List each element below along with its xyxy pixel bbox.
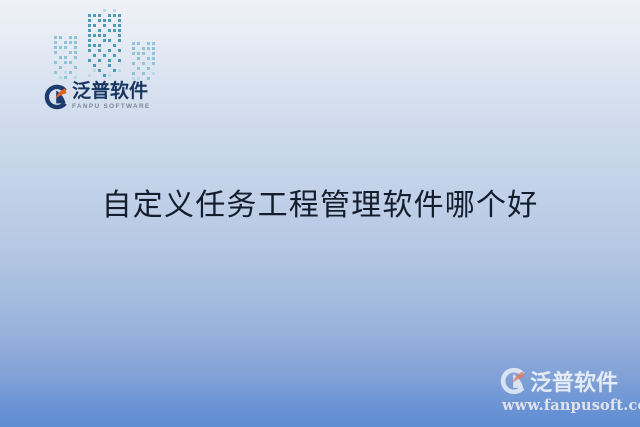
watermark-brand-row: 泛普软件 bbox=[500, 364, 618, 398]
watermark: 泛普软件 www.fanpusoft.com bbox=[496, 364, 638, 420]
pixel-city-buildings-icon bbox=[44, 8, 168, 84]
brand-logo-block[interactable]: 泛普软件 FANPU SOFTWARE bbox=[44, 8, 168, 120]
brand-name-cn: 泛普软件 bbox=[72, 82, 151, 101]
watermark-brand-name: 泛普软件 bbox=[530, 365, 618, 397]
brand-wordmark: 泛普软件 FANPU SOFTWARE bbox=[44, 82, 168, 116]
marketing-banner: 泛普软件 FANPU SOFTWARE 自定义任务工程管理软件哪个好 泛普软件 … bbox=[0, 0, 640, 427]
fanpu-swoosh-logo-icon bbox=[500, 367, 528, 395]
watermark-url: www.fanpusoft.com bbox=[502, 397, 640, 414]
fanpu-swoosh-logo-icon bbox=[44, 84, 70, 110]
page-title: 自定义任务工程管理软件哪个好 bbox=[0, 185, 640, 227]
brand-name-en: FANPU SOFTWARE bbox=[72, 104, 151, 110]
